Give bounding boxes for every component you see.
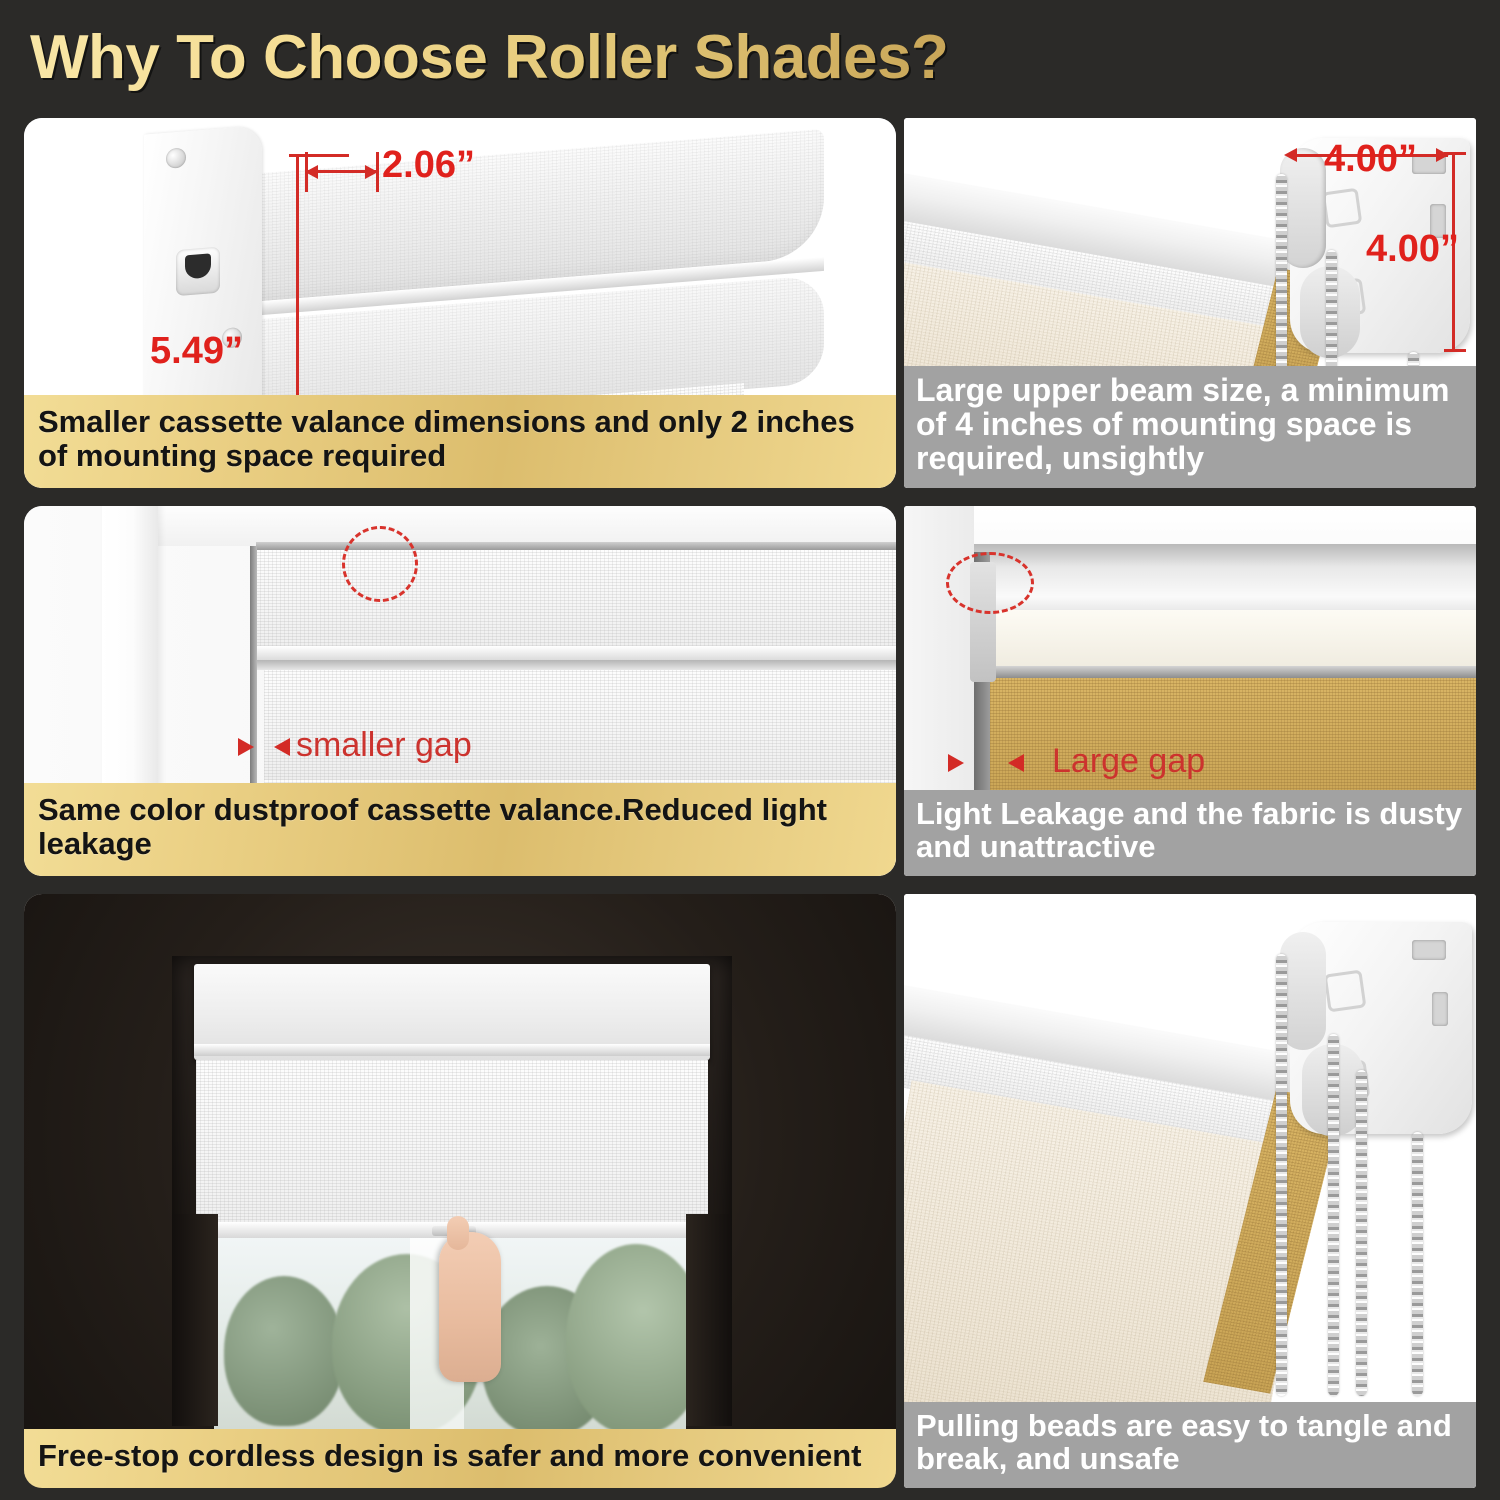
dusty-tan-fabric <box>990 678 1476 804</box>
gap-arrow-left <box>948 754 964 772</box>
page-title: Why To Choose Roller Shades? <box>30 22 948 93</box>
panel-pulling-beads: Pulling beads are easy to tangle and bre… <box>904 894 1476 1488</box>
smaller-gap-label: smaller gap <box>296 726 472 765</box>
width-arrow-right <box>365 165 378 179</box>
caption-free-stop-cordless: Free-stop cordless design is safer and m… <box>24 1429 896 1488</box>
caption-pulling-beads: Pulling beads are easy to tangle and bre… <box>904 1402 1476 1488</box>
beam-width-label: 4.00” <box>1324 138 1417 181</box>
width-dimension-label: 2.06” <box>382 144 475 187</box>
beam-width-arrow-right <box>1436 148 1449 162</box>
bead-chain-left <box>1276 954 1287 1396</box>
panel-large-upper-beam: 4.00” 4.00” Large upper beam size, a min… <box>904 118 1476 488</box>
height-dimension-label: 5.49” <box>150 330 243 373</box>
beam-height-tick-bottom <box>1444 349 1466 352</box>
beam-height-label: 4.00” <box>1366 228 1459 271</box>
window-jamb-left <box>172 1214 218 1426</box>
gap-arrow-left <box>238 738 254 756</box>
panel-smaller-cassette-valance: 2.06” 5.49” Smaller cassette valance dim… <box>24 118 896 488</box>
gap-arrow-right <box>274 738 290 756</box>
hand <box>439 1232 501 1382</box>
roller-shade-fabric <box>196 1060 708 1235</box>
width-arrow-left <box>305 165 318 179</box>
head-rail <box>956 544 1476 610</box>
valance-face <box>956 610 1476 668</box>
highlight-circle-icon <box>946 552 1034 614</box>
panel-dustproof-cassette-valance: smaller gap Same color dustproof cassett… <box>24 506 896 876</box>
comparison-grid: 2.06” 5.49” Smaller cassette valance dim… <box>0 118 1500 1490</box>
panel-image-pulling-beads <box>904 894 1476 1488</box>
valance-bottom-edge <box>956 666 1476 678</box>
infographic-page: Why To Choose Roller Shades? <box>0 0 1500 1500</box>
bead-chain-middle-2 <box>1356 1070 1367 1396</box>
beam-width-arrow-left <box>1284 148 1297 162</box>
valance-lip <box>256 646 896 660</box>
caption-dustproof-cassette-valance: Same color dustproof cassette valance.Re… <box>24 783 896 876</box>
large-gap-label: Large gap <box>1052 742 1205 781</box>
valance-shadow-line <box>256 660 896 670</box>
panel-image-free-stop-cordless <box>24 894 896 1488</box>
window-jamb-right <box>686 1214 732 1426</box>
caption-large-upper-beam: Large upper beam size, a minimum of 4 in… <box>904 366 1476 488</box>
highlight-circle-icon <box>342 526 418 602</box>
panel-free-stop-cordless: Free-stop cordless design is safer and m… <box>24 894 896 1488</box>
gap-arrow-right <box>1008 754 1024 772</box>
bead-chain-right <box>1412 1132 1423 1396</box>
beam-height-tick-top <box>1444 152 1466 155</box>
bead-chain-middle <box>1328 1034 1339 1396</box>
caption-smaller-cassette-valance: Smaller cassette valance dimensions and … <box>24 395 896 488</box>
caption-light-leakage: Light Leakage and the fabric is dusty an… <box>904 790 1476 876</box>
panel-light-leakage: Large gap Light Leakage and the fabric i… <box>904 506 1476 876</box>
valance-lip <box>194 1044 710 1056</box>
